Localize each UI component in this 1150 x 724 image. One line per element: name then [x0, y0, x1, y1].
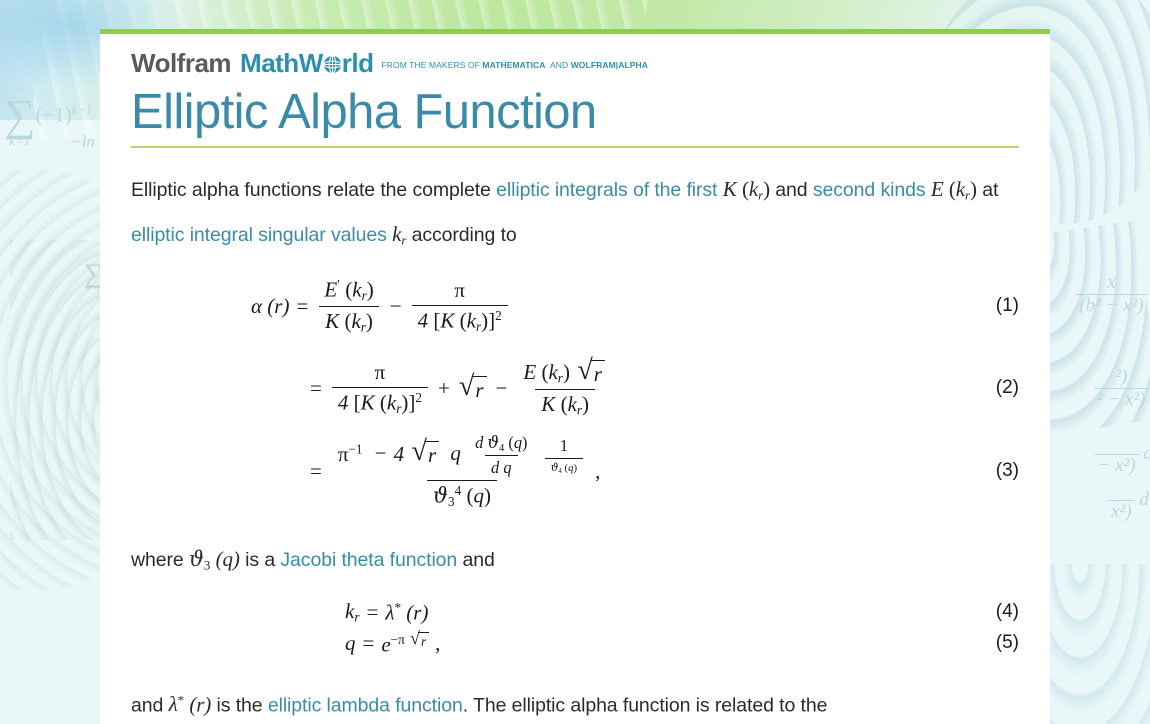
- background-fraction-4-denominator: x²): [1108, 500, 1134, 523]
- link-second-kinds[interactable]: second kinds: [813, 179, 926, 201]
- title-divider: [131, 146, 1019, 148]
- closing-segment-1: and: [131, 694, 163, 716]
- tagline-prefix-2: AND: [550, 60, 571, 70]
- eq5-rhs: e−π √r: [381, 630, 431, 657]
- eq5-trailing-comma: ,: [435, 631, 440, 656]
- eq2-relation: =: [310, 376, 322, 401]
- eq1-fraction-1-denominator: K (kr): [319, 306, 379, 336]
- background-fraction-4-numerator: [1108, 478, 1134, 500]
- background-fraction-3: − x²): [1095, 432, 1139, 477]
- eq2-fraction-2-denominator: K (kr): [535, 389, 595, 419]
- eq1-fraction-1-numerator: E′ (kr): [318, 277, 379, 306]
- eq1-operator-minus: −: [390, 294, 402, 319]
- intro-segment-4: according to: [412, 224, 517, 246]
- equation-4-body: kr = λ* (r): [345, 599, 1019, 626]
- eq3-main-fraction: π−1 −4 √r q d ϑ4 (q) d q 1 ϑ4 (q) ϑ34 (q…: [332, 433, 592, 511]
- logo-wolfram-text: Wolfram: [131, 50, 231, 76]
- eq1-fraction-2-numerator: π: [448, 278, 471, 305]
- tagline-line-1: FROM THE MAKERS OF MATHEMATICA: [381, 60, 545, 70]
- eq2-fraction-2-numerator: E (kr) √r: [517, 358, 613, 389]
- eq4-relation: =: [366, 600, 378, 625]
- background-formula-integral-3: − x²) d x: [1095, 432, 1150, 477]
- eq5-exponent: −π √r: [391, 632, 431, 647]
- eq2-operator-minus: −: [496, 376, 508, 401]
- equation-4-number: (4): [996, 601, 1019, 623]
- intro-segment-2: and: [775, 179, 807, 201]
- eq2-fraction-2: E (kr) √r K (kr): [517, 358, 613, 419]
- link-elliptic-integral-singular-values[interactable]: elliptic integral singular values: [131, 224, 387, 246]
- eq1-fraction-2: π 4 [K (kr)]2: [412, 278, 508, 335]
- intro-symbol-K: K: [723, 177, 737, 201]
- intro-symbol-kr: kr: [392, 222, 406, 246]
- logo-w-text: W: [299, 50, 323, 76]
- eq2-radicand: r: [472, 376, 486, 403]
- closing-symbol-lambda-star: λ*: [169, 692, 184, 716]
- eq3-reciprocal-numerator: 1: [554, 436, 574, 458]
- equation-2-number: (2): [996, 377, 1019, 399]
- site-logo[interactable]: Wolfram MathW rld FROM THE MAKERS OF MAT…: [131, 34, 1019, 76]
- intro-arg-kr-2: (kr): [949, 177, 977, 201]
- intro-segment-3: at: [982, 179, 998, 201]
- eq3-trailing-comma: ,: [595, 459, 600, 484]
- equation-3-body: = π−1 −4 √r q d ϑ4 (q) d q 1 ϑ4 (q): [303, 433, 1019, 511]
- globe-icon: [323, 52, 342, 71]
- eq5-relation: =: [363, 631, 375, 656]
- tagline-line-2: AND WOLFRAM|ALPHA: [550, 60, 648, 70]
- equation-1-number: (1): [996, 295, 1019, 317]
- eq4-lhs: kr: [345, 599, 359, 626]
- logo-mathworld-text: MathW rld: [240, 50, 373, 76]
- logo-orld-text: rld: [342, 50, 374, 76]
- equation-5-body: q = e−π √r ,: [345, 630, 1019, 657]
- equation-3: = π−1 −4 √r q d ϑ4 (q) d q 1 ϑ4 (q): [131, 433, 1019, 511]
- where-paragraph: where ϑ3 (q) is a Jacobi theta function …: [131, 540, 1019, 585]
- eq2-fraction-1-denominator: 4 [K (kr)]2: [332, 387, 428, 417]
- closing-segment-2: is the: [217, 694, 268, 716]
- content-card: Wolfram MathW rld FROM THE MAKERS OF MAT…: [100, 29, 1050, 724]
- eq2-sqrt-r: √r: [459, 374, 487, 403]
- equation-1: α (r) = E′ (kr) K (kr) − π 4 [K (kr)]2 (…: [131, 277, 1019, 336]
- where-arg-q: (q): [216, 547, 240, 571]
- where-symbol-theta3: ϑ3: [189, 547, 210, 571]
- intro-paragraph: Elliptic alpha functions relate the comp…: [131, 170, 1019, 259]
- eq1-fraction-2-denominator: 4 [K (kr)]2: [412, 305, 508, 335]
- intro-symbol-E: E: [931, 177, 944, 201]
- intro-segment-1: Elliptic alpha functions relate the comp…: [131, 179, 496, 201]
- eq1-fraction-1: E′ (kr) K (kr): [318, 277, 379, 336]
- where-segment-3: and: [463, 549, 495, 571]
- eq2-fraction-1-numerator: π: [369, 360, 392, 387]
- background-formula-integral-4: x²) d x: [1108, 478, 1150, 523]
- where-segment-2: is a: [245, 549, 280, 571]
- link-elliptic-integrals-first[interactable]: elliptic integrals of the first: [496, 179, 717, 201]
- closing-segment-3: . The elliptic alpha function is related…: [463, 694, 828, 716]
- equation-5-number: (5): [996, 632, 1019, 654]
- eq4-rhs: λ* (r): [385, 600, 428, 625]
- logo-math-text: Math: [240, 50, 299, 76]
- closing-arg-r: (r): [189, 692, 211, 716]
- eq2-operator-plus: +: [438, 376, 450, 401]
- equation-1-body: α (r) = E′ (kr) K (kr) − π 4 [K (kr)]2: [251, 277, 1019, 336]
- eq3-derivative-numerator: d ϑ4 (q): [469, 433, 533, 456]
- logo-tagline: FROM THE MAKERS OF MATHEMATICA AND WOLFR…: [381, 55, 648, 76]
- equation-4: kr = λ* (r) (4): [131, 599, 1019, 626]
- background-fraction-4: x²): [1108, 478, 1134, 523]
- equation-5: q = e−π √r , (5): [131, 630, 1019, 657]
- page-title: Elliptic Alpha Function: [131, 85, 1019, 140]
- eq3-derivative-fraction: d ϑ4 (q) d q: [469, 433, 533, 479]
- background-fraction-3-denominator: − x²): [1095, 454, 1139, 477]
- eq5-lhs: q: [345, 631, 356, 656]
- intro-arg-kr-1: (kr): [742, 177, 770, 201]
- eq1-lhs: α (r): [251, 294, 289, 319]
- eq3-derivative-denominator: d q: [485, 455, 517, 478]
- eq2-fraction-1: π 4 [K (kr)]2: [332, 360, 428, 417]
- eq3-denominator: ϑ34 (q): [427, 480, 497, 510]
- where-segment-1: where: [131, 549, 184, 571]
- tagline-prefix-1: FROM THE MAKERS OF: [381, 60, 482, 70]
- equation-3-number: (3): [996, 460, 1019, 482]
- equation-2-body: = π 4 [K (kr)]2 + √r − E (kr) √r K (kr): [303, 358, 1019, 419]
- eq3-reciprocal-denominator: ϑ4 (q): [545, 458, 583, 475]
- eq1-relation: =: [296, 294, 308, 319]
- tagline-bold-mathematica: MATHEMATICA: [482, 60, 545, 70]
- tagline-bold-wolframalpha: WOLFRAM|ALPHA: [571, 60, 648, 70]
- background-differential-3: d x: [1143, 443, 1150, 464]
- eq3-reciprocal-fraction: 1 ϑ4 (q): [545, 436, 583, 475]
- link-elliptic-lambda-function[interactable]: elliptic lambda function: [268, 694, 463, 716]
- link-jacobi-theta-function[interactable]: Jacobi theta function: [280, 549, 457, 571]
- eq3-relation: =: [310, 459, 322, 484]
- eq3-numerator: π−1 −4 √r q d ϑ4 (q) d q 1 ϑ4 (q): [332, 433, 592, 481]
- equation-2: = π 4 [K (kr)]2 + √r − E (kr) √r K (kr) …: [131, 358, 1019, 419]
- background-differential-4: d x: [1139, 489, 1150, 510]
- background-fraction-3-numerator: [1095, 432, 1139, 454]
- closing-paragraph: and λ* (r) is the elliptic lambda functi…: [131, 681, 1019, 724]
